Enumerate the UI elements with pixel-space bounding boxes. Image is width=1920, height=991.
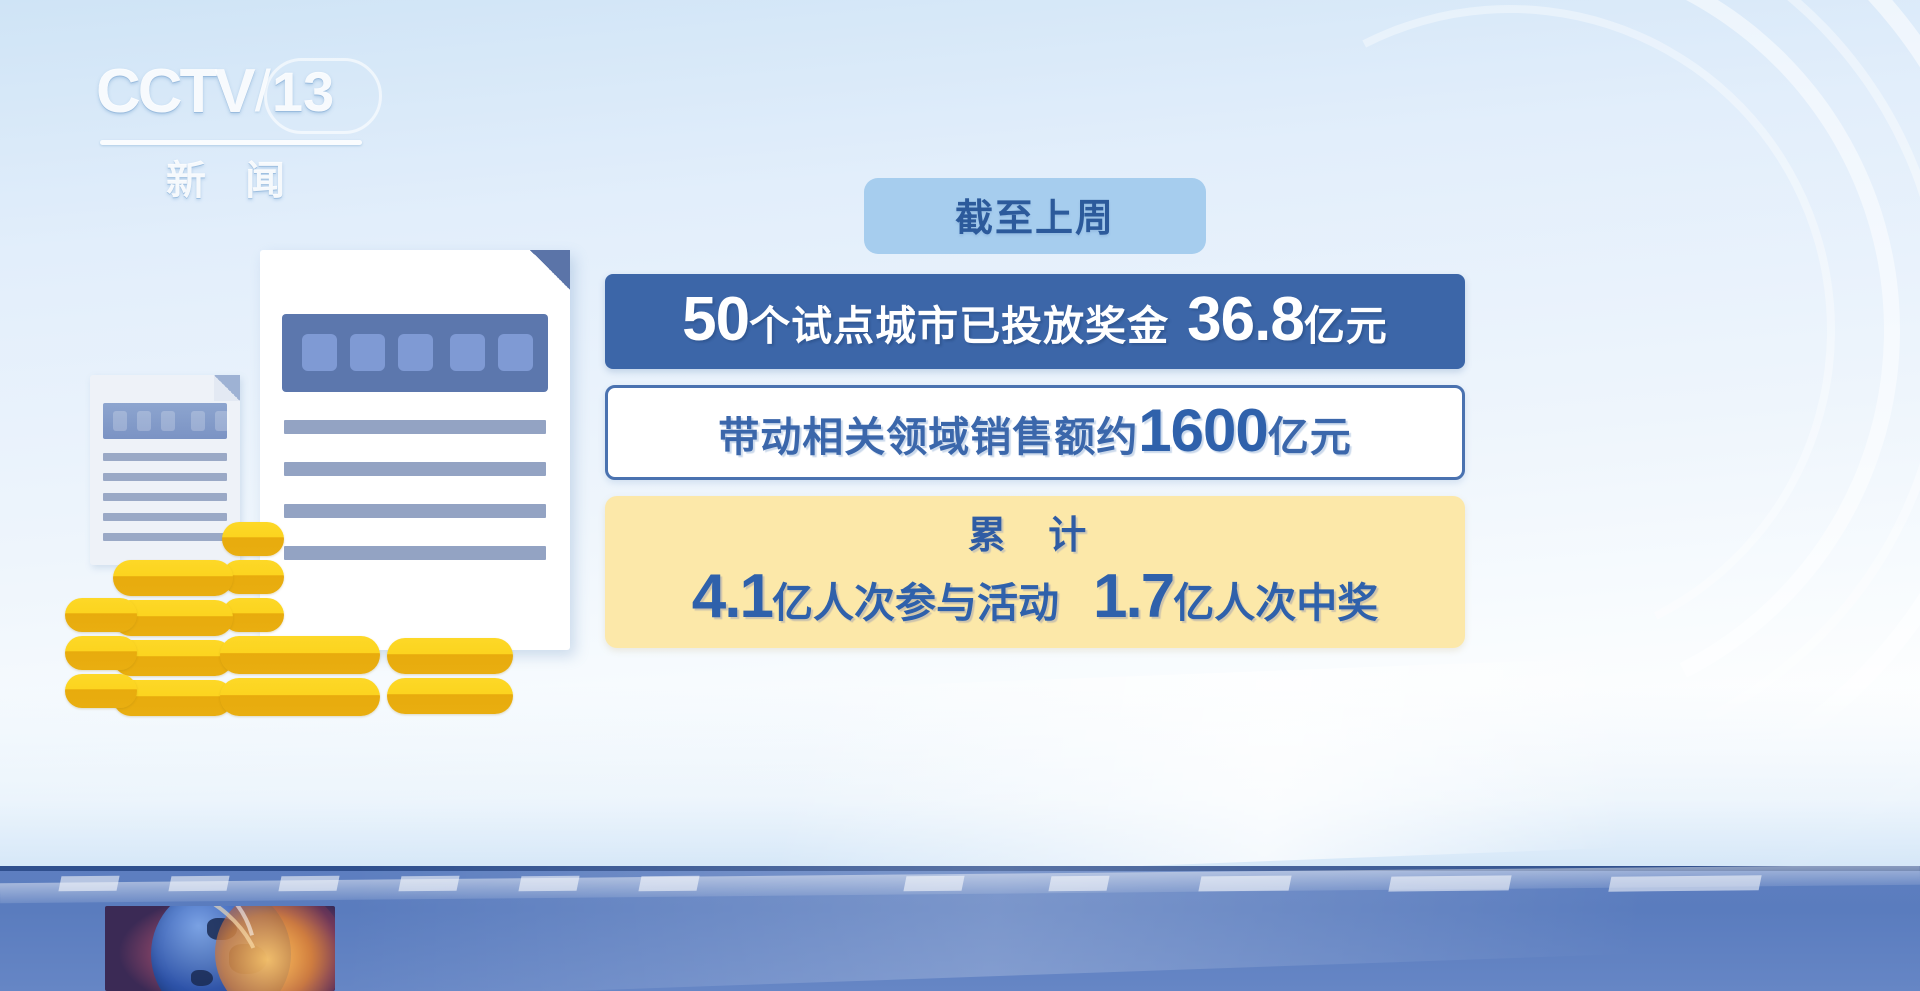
page-fold-icon [214,375,240,401]
page-fold-icon [530,250,570,290]
document-icon-secondary [90,375,240,565]
stat-unit-sales: 亿元 [1268,403,1352,463]
cumulative-heading: 累 计 [625,504,1445,559]
cctv13-news-logo-icon: CCTV / 13 新 闻 [96,56,386,176]
stat-text-cities: 个试点城市已投放奖金 [749,292,1169,352]
logo-underline [100,140,362,145]
stat-text-sales: 带动相关领域销售额约 [718,403,1138,463]
time-range-label: 截至上周 [955,198,1115,240]
stat-value-prize: 36.8 [1187,284,1304,355]
stat-banner-cumulative: 累 计 4.1 亿人次参与活动 1.7 亿人次中奖 [605,496,1465,648]
channel-sub-label: 新 闻 [166,148,299,206]
stat-text-winners: 亿人次中奖 [1173,569,1378,629]
news-globe-icon [105,906,335,991]
time-range-badge: 截至上周 [864,178,1206,254]
cumulative-values-row: 4.1 亿人次参与活动 1.7 亿人次中奖 [625,561,1445,632]
stat-banner-sales: 带动相关领域销售额约 1600 亿元 [605,385,1465,480]
stat-value-winners: 1.7 [1093,561,1173,632]
stat-value-sales: 1600 [1138,396,1267,465]
news-ticker-bar [0,866,1920,991]
stat-unit-prize: 亿元 [1304,292,1388,352]
logo-ring [264,58,382,134]
document-header-bar [282,314,548,392]
documents-and-coins-illustration [55,240,615,720]
document-icon-primary [260,250,570,650]
channel-name: CCTV [96,56,253,127]
stat-value-participants: 4.1 [692,561,772,632]
document-header-bar [103,403,227,439]
stat-value-cities: 50 [682,284,749,355]
statistics-panel-group: 截至上周 50 个试点城市已投放奖金 36.8 亿元 带动相关领域销售额约 16… [605,178,1465,648]
stat-banner-prize: 50 个试点城市已投放奖金 36.8 亿元 [605,274,1465,369]
broadcast-stage: CCTV / 13 新 闻 [0,0,1920,991]
stat-text-participants: 亿人次参与活动 [772,569,1059,629]
